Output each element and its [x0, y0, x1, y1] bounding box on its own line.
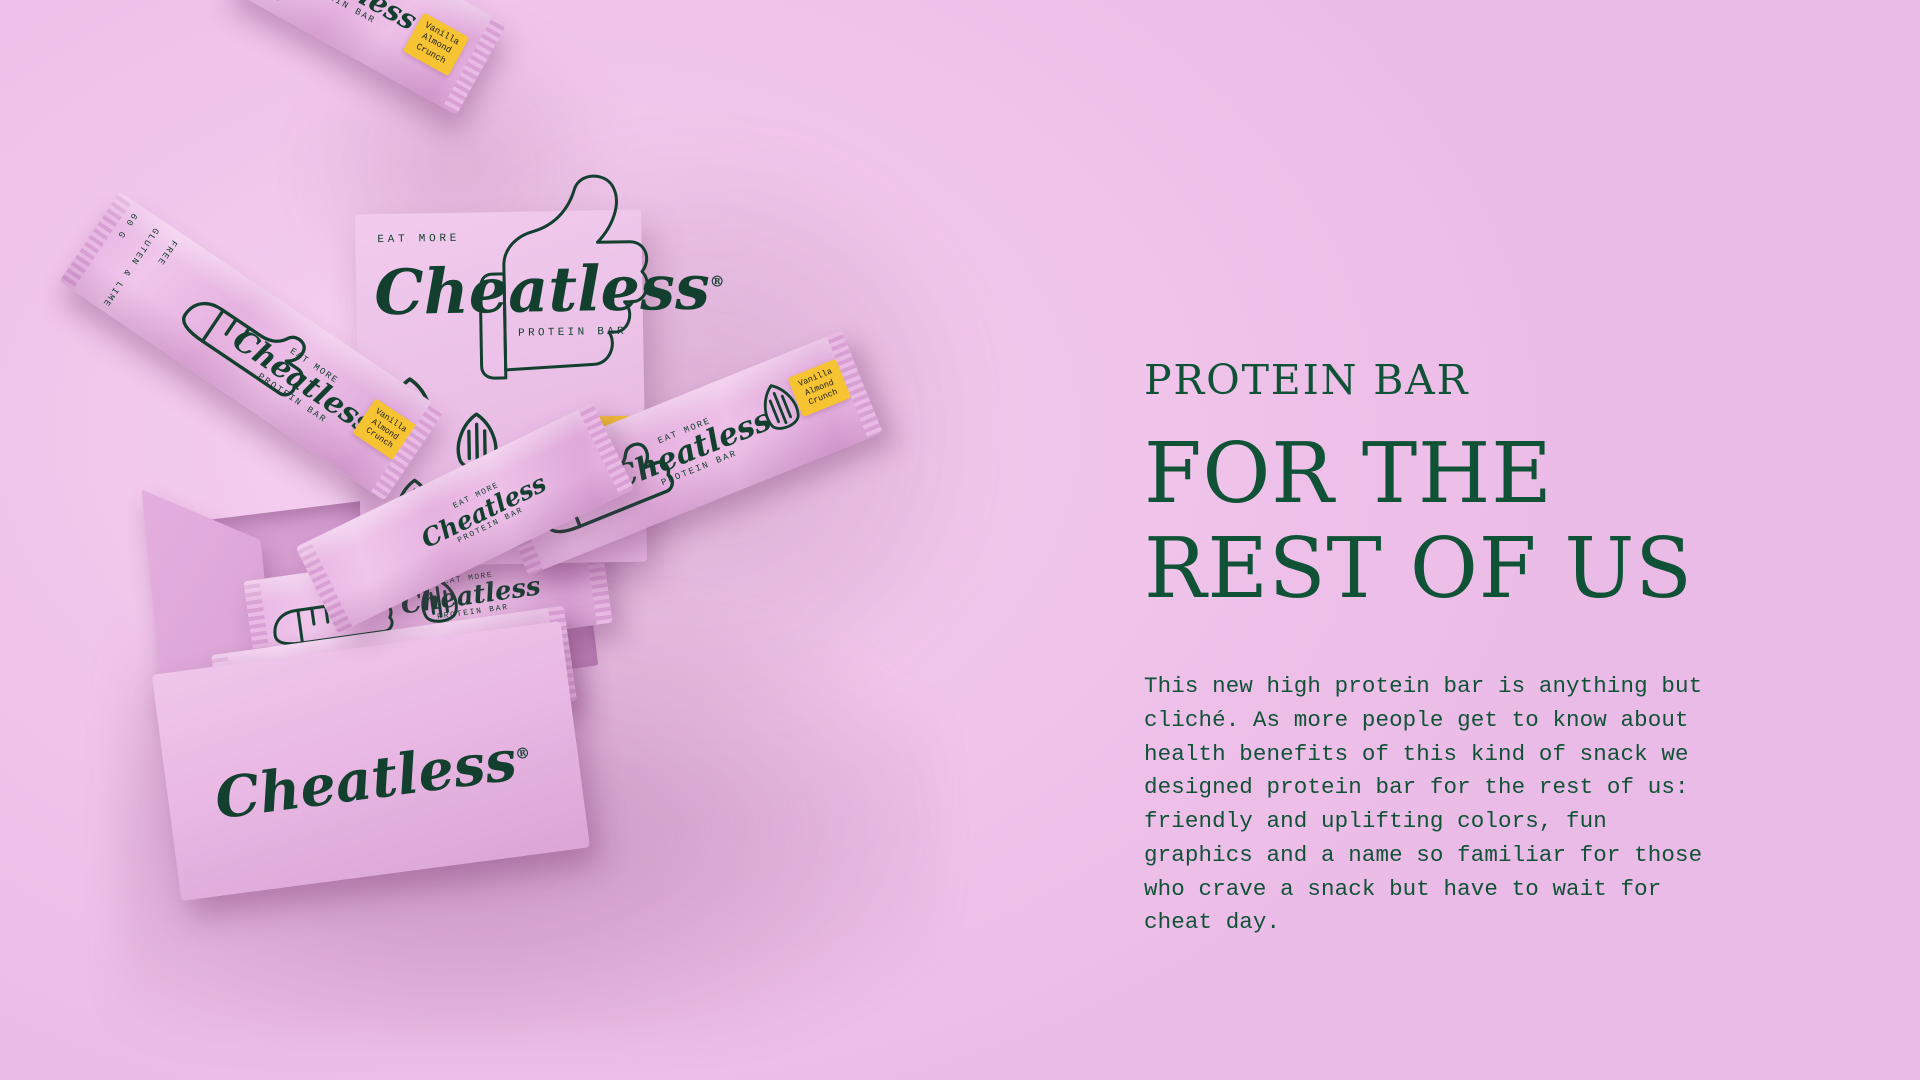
hero-copy: PROTEIN BAR FOR THE REST OF US This new … [1144, 360, 1844, 940]
body-line: friendly and uplifting colors, fun [1144, 805, 1844, 839]
registered-mark: ® [514, 744, 531, 764]
body-line: cliché. As more people get to know about [1144, 704, 1844, 738]
product-photo: EAT MORE Cheatless PROTEIN BAR EAT MORE … [0, 0, 1120, 1080]
body-line: who crave a snack but have to wait for [1144, 873, 1844, 907]
body-line: graphics and a name so familiar for thos… [1144, 839, 1844, 873]
page-title: FOR THE REST OF US [1144, 427, 1844, 616]
eyebrow-label: PROTEIN BAR [1144, 360, 1844, 401]
body-line: This new high protein bar is anything bu… [1144, 670, 1844, 704]
registered-mark: ® [710, 272, 725, 290]
panel-eat-more: EAT MORE [377, 233, 460, 246]
body-line: health benefits of this kind of snack we [1144, 738, 1844, 772]
body-paragraph: This new high protein bar is anything bu… [1144, 670, 1844, 940]
hero-section: EAT MORE Cheatless PROTEIN BAR EAT MORE … [0, 0, 1920, 1080]
body-line: cheat day. [1144, 906, 1844, 940]
headline-line-1: FOR THE [1144, 427, 1844, 522]
box-brand-logo: Cheatless® [211, 726, 535, 833]
thumbs-up-icon [472, 167, 656, 380]
body-line: designed protein bar for the rest of us: [1144, 771, 1844, 805]
headline-line-2: REST OF US [1144, 522, 1844, 617]
box-brand-text: Cheatless [211, 728, 520, 833]
